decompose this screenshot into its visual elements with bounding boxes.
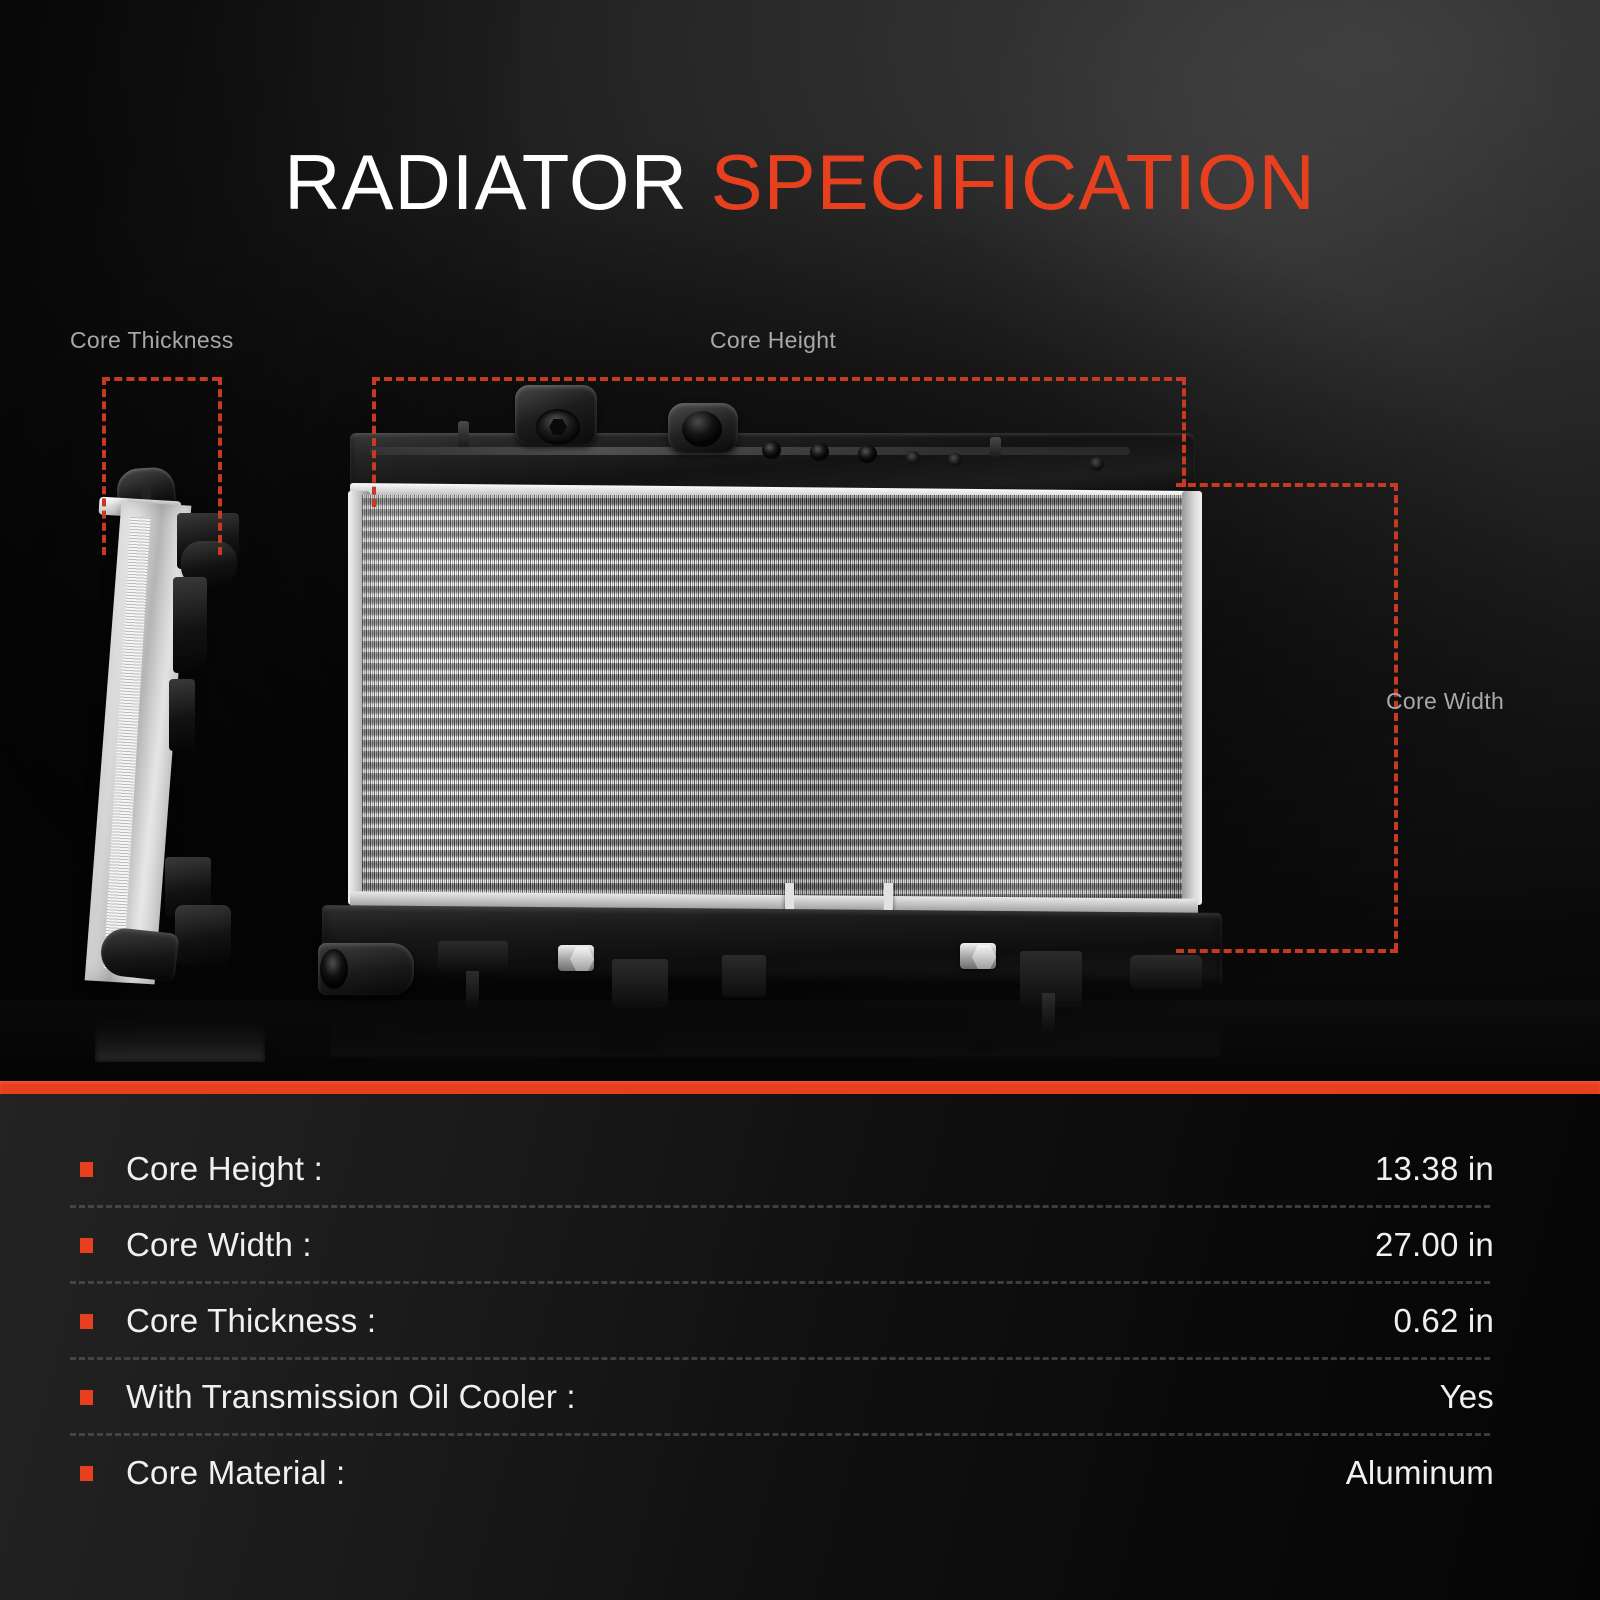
radiator-front-view	[330, 395, 1210, 995]
dimension-label-core-width: Core Width	[1386, 688, 1504, 715]
core-thickness-bracket-left	[102, 377, 106, 555]
core-sheen	[362, 495, 1190, 901]
table-row: With Transmission Oil Cooler :Yes	[70, 1360, 1530, 1436]
table-row: Core Thickness :0.62 in	[70, 1284, 1530, 1360]
bullet-square-icon	[80, 1314, 93, 1329]
accent-divider	[0, 1081, 1600, 1094]
reflection-tank	[330, 1001, 1220, 1057]
core-height-bracket-right	[1182, 377, 1186, 487]
outlet-port-opening	[320, 949, 348, 989]
core-height-bracket-left	[372, 377, 376, 507]
bullet-square-icon	[80, 1390, 93, 1405]
core-width-bracket-right	[1394, 483, 1398, 951]
spec-label: With Transmission Oil Cooler :	[126, 1378, 576, 1416]
top-tank-cap-1	[762, 441, 781, 459]
reflection-bracket-1	[600, 1005, 660, 1051]
top-tank-stud	[458, 421, 469, 447]
table-row: Core Width :27.00 in	[70, 1208, 1530, 1284]
reflection-bracket-2	[970, 1003, 1050, 1051]
reflection-outlet	[330, 1005, 422, 1047]
side-tank-block-3	[173, 577, 207, 673]
spec-value: 13.38 in	[1375, 1150, 1494, 1188]
top-tank-bolt-2	[948, 453, 962, 467]
page-title: RADIATOR SPECIFICATION	[0, 143, 1600, 221]
radiator-reflection	[330, 985, 1220, 1063]
spec-value: Aluminum	[1346, 1454, 1494, 1492]
top-tank-ridge	[370, 447, 1130, 455]
bullet-square-icon	[80, 1162, 93, 1177]
spec-value: 27.00 in	[1375, 1226, 1494, 1264]
dimension-label-core-height: Core Height	[710, 327, 836, 354]
bottom-bracket-5	[1130, 955, 1202, 989]
product-spec-image: RADIATOR SPECIFICATION	[0, 0, 1600, 1600]
core-height-bracket-top	[372, 377, 1184, 381]
top-tank-cap-3	[858, 445, 877, 463]
dimension-label-core-thickness: Core Thickness	[70, 327, 234, 354]
inlet-port-opening	[682, 411, 722, 447]
core-width-bracket-top	[1176, 483, 1398, 487]
side-bracket-foot	[175, 905, 231, 965]
specification-rows: Core Height :13.38 inCore Width :27.00 i…	[70, 1094, 1530, 1512]
table-row: Core Material :Aluminum	[70, 1436, 1530, 1512]
core-width-bracket-bottom	[1176, 949, 1398, 953]
core-thickness-bracket-right	[218, 377, 222, 555]
table-row: Core Height :13.38 in	[70, 1132, 1530, 1208]
top-tank-cap-2	[810, 443, 829, 461]
title-space	[688, 138, 711, 226]
spec-label: Core Material :	[126, 1454, 345, 1492]
radiator-side-view	[95, 465, 255, 1010]
bullet-square-icon	[80, 1238, 93, 1253]
core-thickness-bracket-top	[102, 377, 220, 381]
core-right-edge	[1182, 491, 1202, 905]
top-tank-bolt-3	[1090, 457, 1104, 471]
spec-label: Core Height :	[126, 1150, 323, 1188]
top-tank-stud-2	[990, 437, 1001, 457]
title-word-radiator: RADIATOR	[284, 138, 688, 226]
top-tank-bolt-1	[906, 451, 920, 465]
bottom-bracket-1	[438, 941, 508, 971]
side-view-reflection	[95, 1006, 265, 1062]
spec-value: 0.62 in	[1394, 1302, 1494, 1340]
side-tank-block-4	[169, 679, 195, 751]
bullet-square-icon	[80, 1466, 93, 1481]
spec-value: Yes	[1440, 1378, 1494, 1416]
spec-label: Core Thickness :	[126, 1302, 376, 1340]
specification-table: Core Height :13.38 inCore Width :27.00 i…	[0, 1094, 1600, 1600]
spec-label: Core Width :	[126, 1226, 312, 1264]
title-word-specification: SPECIFICATION	[711, 138, 1316, 226]
